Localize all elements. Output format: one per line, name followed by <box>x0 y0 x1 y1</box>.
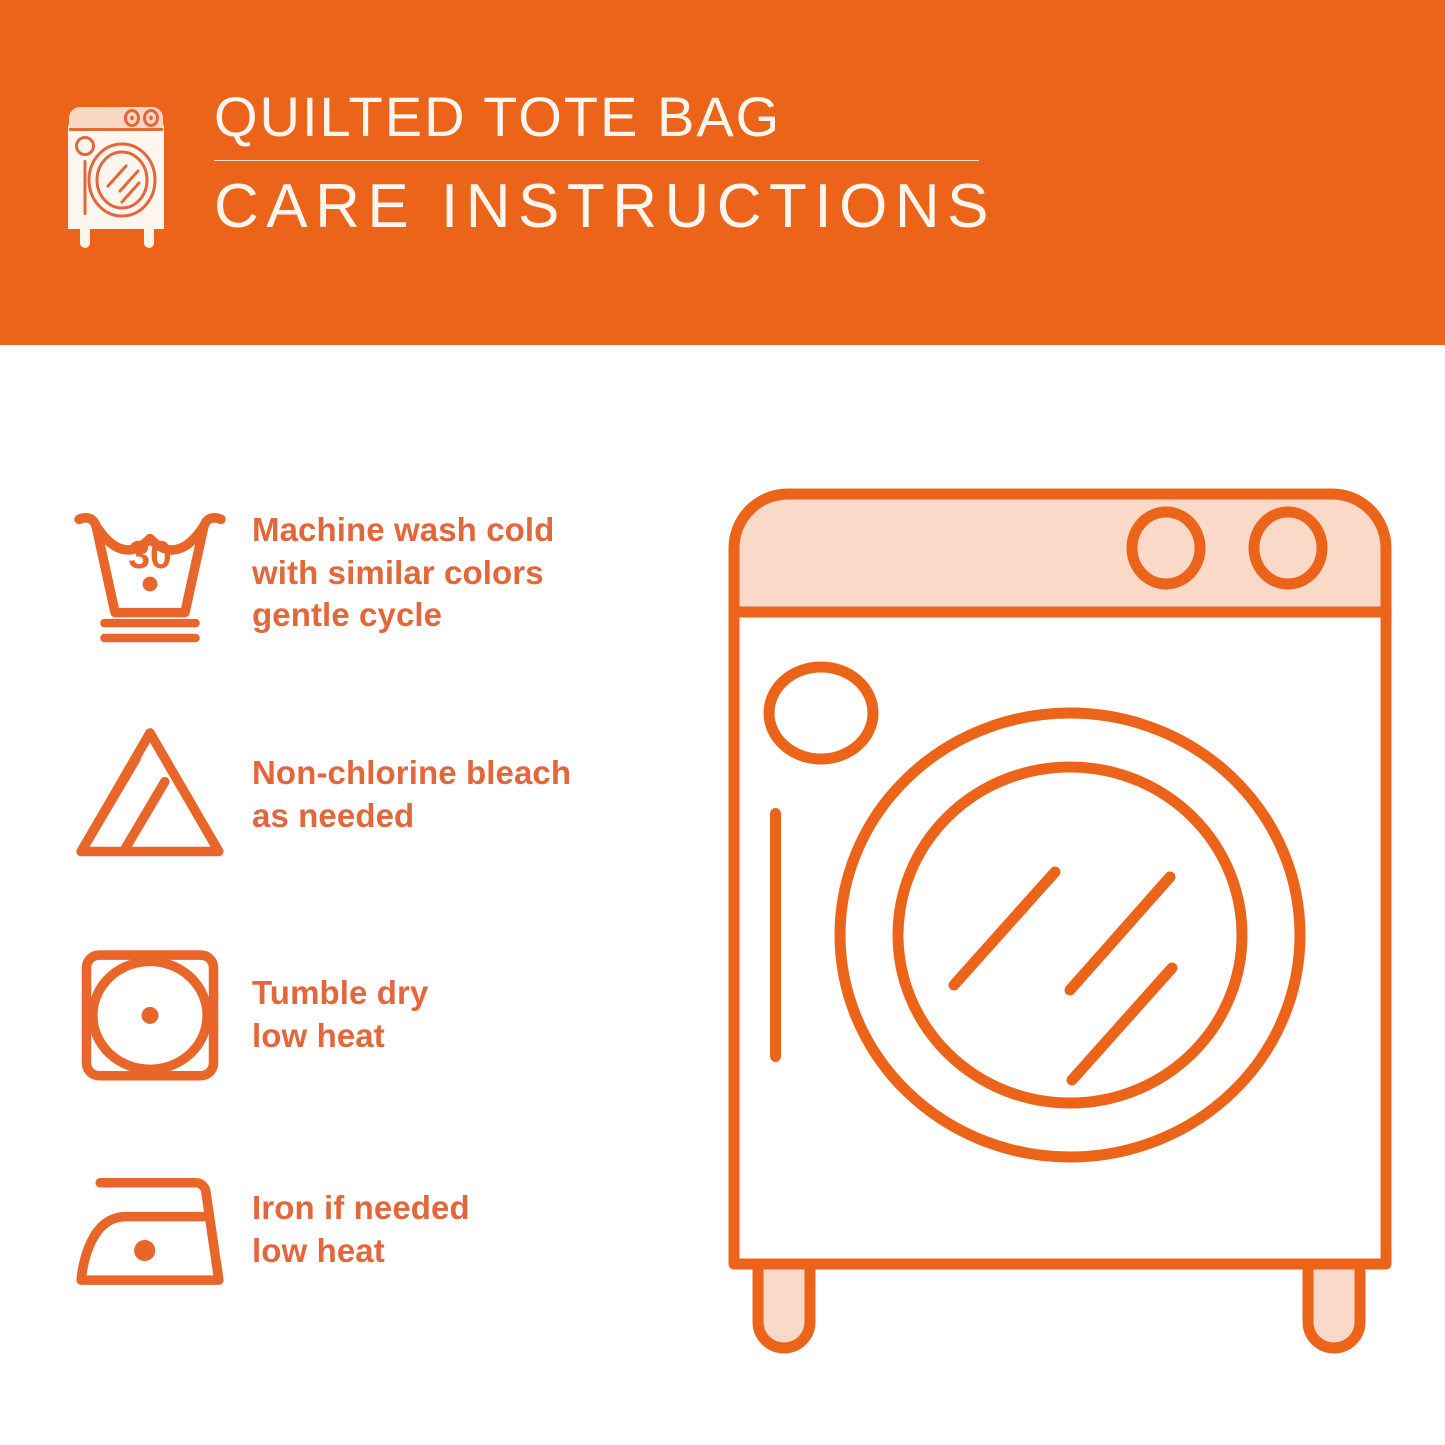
washing-machine-illustration <box>700 460 1420 1380</box>
machine-wash-30-gentle-icon: 30 <box>60 493 240 653</box>
care-row: Tumble dry low heat <box>60 935 680 1095</box>
care-label: Non-chlorine bleach as needed <box>252 752 571 838</box>
non-chlorine-bleach-icon <box>60 715 240 875</box>
page-title: QUILTED TOTE BAG <box>208 88 996 145</box>
care-label: Tumble dry low heat <box>252 972 428 1058</box>
care-instruction-list: 30 Machine wash cold with similar colors… <box>0 345 700 1445</box>
iron-low-heat-icon <box>60 1150 240 1310</box>
washing-machine-icon <box>60 98 180 258</box>
care-label: Iron if needed low heat <box>252 1187 470 1273</box>
care-row: Iron if needed low heat <box>60 1150 680 1310</box>
care-label: Machine wash cold with similar colors ge… <box>252 509 554 638</box>
header-content: QUILTED TOTE BAG CARE INSTRUCTIONS <box>60 88 996 258</box>
header-band: QUILTED TOTE BAG CARE INSTRUCTIONS <box>0 0 1445 345</box>
header-text-block: QUILTED TOTE BAG CARE INSTRUCTIONS <box>208 88 996 238</box>
title-divider <box>214 160 979 161</box>
page-subtitle: CARE INSTRUCTIONS <box>208 175 996 238</box>
care-row: 30 Machine wash cold with similar colors… <box>60 493 680 653</box>
care-row: Non-chlorine bleach as needed <box>60 715 680 875</box>
svg-text:30: 30 <box>128 534 172 577</box>
tumble-dry-low-icon <box>60 935 240 1095</box>
